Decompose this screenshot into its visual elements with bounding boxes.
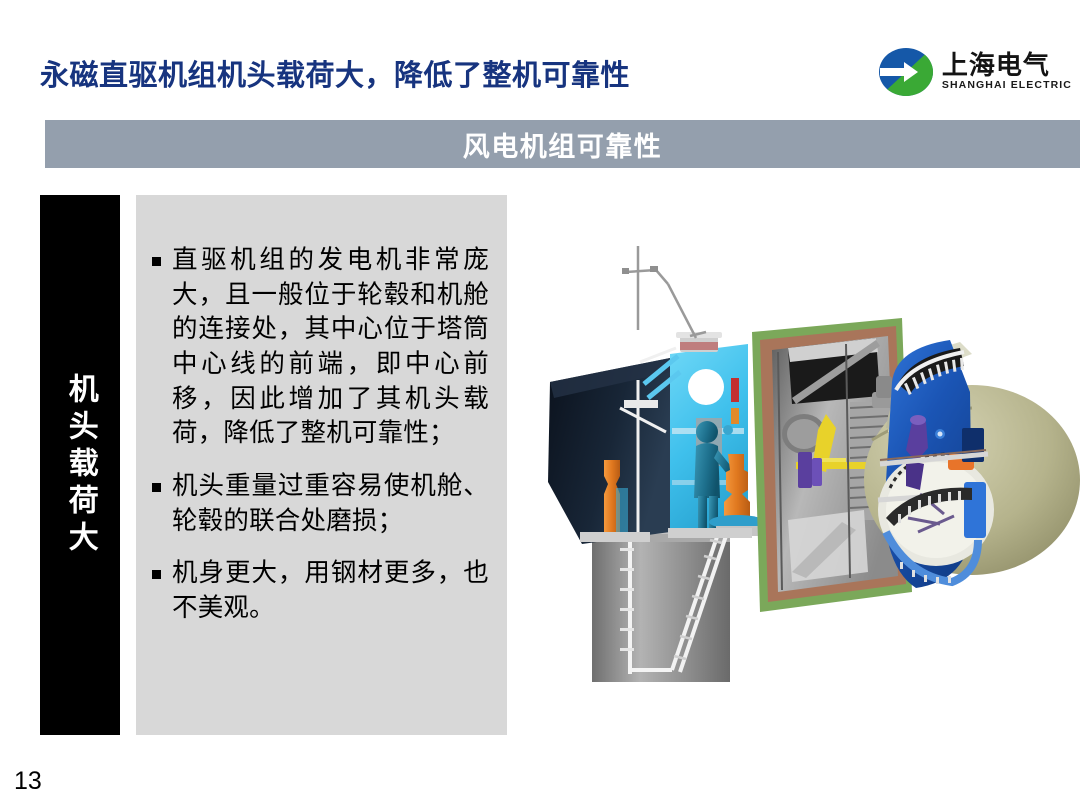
bullet-text: 机头重量过重容易使机舱、轮毂的联合处磨损；	[172, 469, 489, 538]
list-item: 机头重量过重容易使机舱、轮毂的联合处磨损；	[152, 469, 489, 538]
square-bullet-icon	[152, 257, 161, 266]
shanghai-electric-emblem-icon	[878, 46, 934, 98]
content-panel: 直驱机组的发电机非常庞大，且一般位于轮毂和机舱的连接处，其中心位于塔筒中心线的前…	[136, 195, 507, 735]
section-banner: 风电机组可靠性	[45, 120, 1080, 168]
anemometer-mast	[626, 246, 706, 338]
bullet-list: 直驱机组的发电机非常庞大，且一般位于轮毂和机舱的连接处，其中心位于塔筒中心线的前…	[152, 243, 489, 626]
bullet-text: 直驱机组的发电机非常庞大，且一般位于轮毂和机舱的连接处，其中心位于塔筒中心线的前…	[172, 243, 489, 451]
bullet-text: 机身更大，用钢材更多，也不美观。	[172, 556, 489, 625]
square-bullet-icon	[152, 483, 161, 492]
square-bullet-icon	[152, 570, 161, 579]
side-tab-label: 机头载荷大	[64, 373, 96, 558]
section-banner-label: 风电机组可靠性	[463, 125, 663, 164]
list-item: 直驱机组的发电机非常庞大，且一般位于轮毂和机舱的连接处，其中心位于塔筒中心线的前…	[152, 243, 489, 451]
turbine-tower-group	[586, 518, 736, 682]
page-title: 永磁直驱机组机头载荷大，降低了整机可靠性	[40, 52, 630, 94]
wind-turbine-nacelle-cutaway-image	[520, 232, 1080, 682]
brand-name-cn: 上海电气	[942, 52, 1050, 79]
brand-logo: 上海电气 SHANGHAI ELECTRIC	[878, 46, 1072, 98]
side-tab: 机头载荷大	[40, 195, 120, 735]
brand-name-en: SHANGHAI ELECTRIC	[942, 80, 1072, 92]
slide-root: 永磁直驱机组机头载荷大，降低了整机可靠性 上海电气 SHANGHAI ELECT…	[0, 0, 1080, 810]
list-item: 机身更大，用钢材更多，也不美观。	[152, 556, 489, 625]
brand-logo-text: 上海电气 SHANGHAI ELECTRIC	[942, 52, 1072, 92]
page-number: 13	[14, 767, 42, 796]
